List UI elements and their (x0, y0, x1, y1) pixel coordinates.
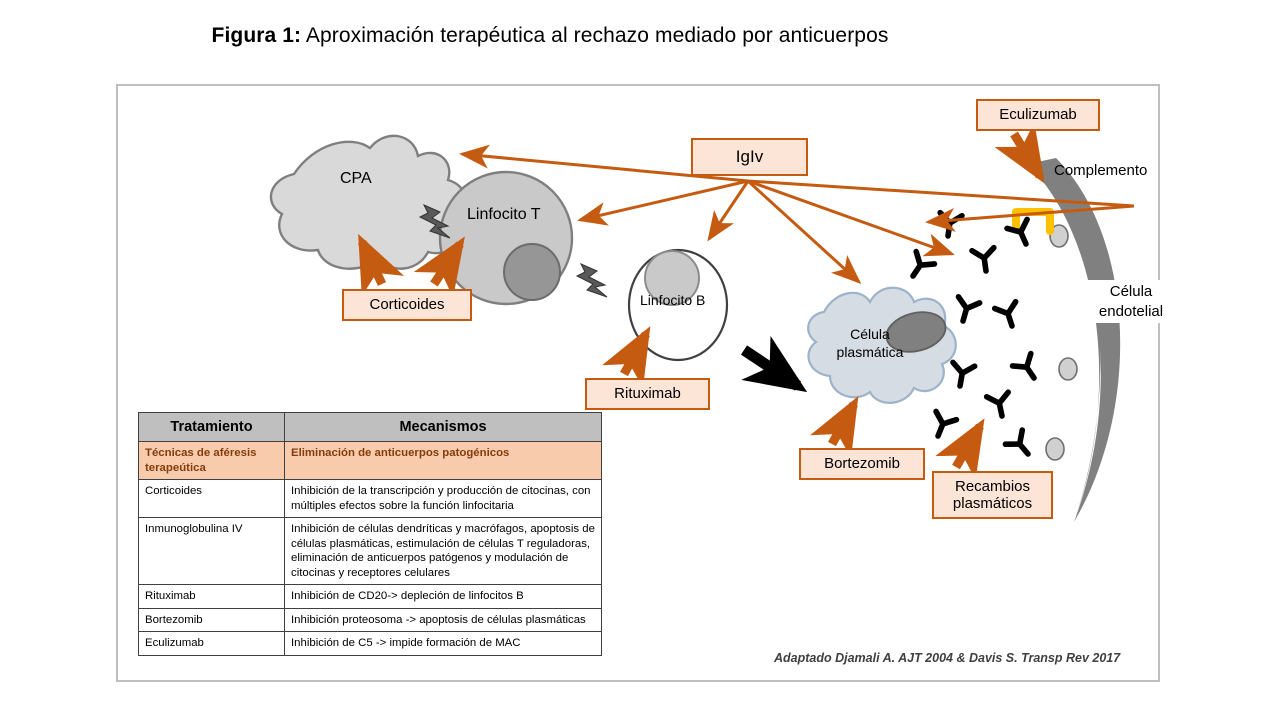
source-credit: Adaptado Djamali A. AJT 2004 & Davis S. … (774, 651, 1120, 665)
table-row: BortezomibInhibición proteosoma -> apopt… (139, 608, 602, 631)
table-cell-treatment: Corticoides (139, 480, 285, 518)
drug-box-eculizumab[interactable]: Eculizumab (976, 99, 1100, 131)
page-title-lead: Figura 1: (212, 24, 302, 47)
table-row: Técnicas de aféresis terapeúticaEliminac… (139, 442, 602, 480)
table-cell-mechanism: Eliminación de anticuerpos patogénicos (285, 442, 602, 480)
table-cell-treatment: Inmunoglobulina IV (139, 518, 285, 585)
page-title: Figura 1: Aproximación terapéutica al re… (0, 24, 1100, 48)
drug-box-iglv[interactable]: IgIv (691, 138, 808, 176)
table-cell-treatment: Bortezomib (139, 608, 285, 631)
table-header-tratamiento: Tratamiento (139, 413, 285, 442)
treatment-table: Tratamiento Mecanismos Técnicas de afére… (138, 412, 602, 656)
table-row: Inmunoglobulina IVInhibición de células … (139, 518, 602, 585)
drug-box-bortezomib-label: Bortezomib (824, 455, 900, 472)
table-body: Técnicas de aféresis terapeúticaEliminac… (139, 442, 602, 655)
table-cell-treatment: Técnicas de aféresis terapeútica (139, 442, 285, 480)
table-row: RituximabInhibición de CD20-> depleción … (139, 585, 602, 608)
drug-box-rituximab[interactable]: Rituximab (585, 378, 710, 410)
drug-box-corticoides[interactable]: Corticoides (342, 289, 472, 321)
table-cell-treatment: Eculizumab (139, 632, 285, 655)
plasma-cell-shape (808, 288, 956, 403)
drug-box-recambios-label: Recambios plasmáticos (934, 478, 1051, 513)
table-row: CorticoidesInhibición de la transcripció… (139, 480, 602, 518)
drug-box-iglv-label: IgIv (736, 147, 763, 167)
table-cell-treatment: Rituximab (139, 585, 285, 608)
drug-box-eculizumab-label: Eculizumab (999, 106, 1077, 123)
table-row: EculizumabInhibición de C5 -> impide for… (139, 632, 602, 655)
t-lymphocyte-shape (440, 172, 572, 304)
drug-box-bortezomib[interactable]: Bortezomib (799, 448, 925, 480)
diagram-frame: IgIv Eculizumab Corticoides Rituximab Bo… (116, 84, 1160, 682)
table-header-mecanismos: Mecanismos (285, 413, 602, 442)
page-title-rest: Aproximación terapéutica al rechazo medi… (301, 24, 888, 47)
receptor-icon-group (1046, 225, 1077, 460)
drug-box-rituximab-label: Rituximab (614, 385, 681, 402)
table-cell-mechanism: Inhibición de células dendríticas y macr… (285, 518, 602, 585)
table-cell-mechanism: Inhibición proteosoma -> apoptosis de cé… (285, 608, 602, 631)
drug-box-recambios-plasmaticos[interactable]: Recambios plasmáticos (932, 471, 1053, 519)
table-cell-mechanism: Inhibición de CD20-> depleción de linfoc… (285, 585, 602, 608)
drug-box-corticoides-label: Corticoides (369, 296, 444, 313)
differentiation-arrow (744, 350, 798, 386)
table-cell-mechanism: Inhibición de la transcripción y producc… (285, 480, 602, 518)
table-cell-mechanism: Inhibición de C5 -> impide formación de … (285, 632, 602, 655)
table-header-row: Tratamiento Mecanismos (139, 413, 602, 442)
